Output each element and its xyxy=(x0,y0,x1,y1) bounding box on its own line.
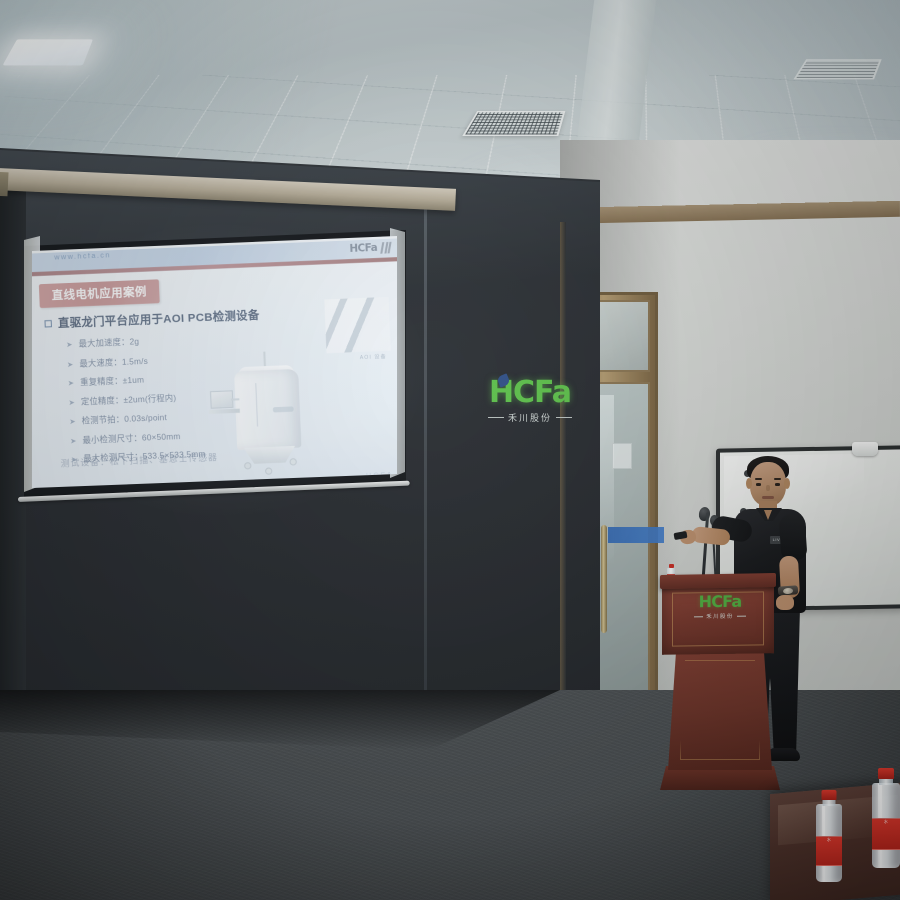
presenter-arm-right xyxy=(778,513,807,561)
presenter-eye-right xyxy=(775,483,780,486)
presenter-shoe-right xyxy=(768,748,800,761)
bottle-label-text: 水 xyxy=(816,837,842,843)
water-bottle-back: 水 xyxy=(872,768,900,868)
arrow-bullet-icon: ➤ xyxy=(66,341,73,350)
room-scene: HCFa 禾川股份 www.hcfa.cn HCFa 直线电机应用案例 直驱龙门… xyxy=(0,0,900,900)
bottle-cap xyxy=(669,564,674,568)
machine-caster xyxy=(244,462,252,470)
presenter-eyebrow-left xyxy=(755,478,762,480)
machine-caster xyxy=(265,467,273,475)
hcfa-logo-subtitle: 禾川股份 xyxy=(470,411,590,424)
slide-hcfa-logo: HCFa xyxy=(349,242,391,255)
arrow-bullet-icon: ➤ xyxy=(70,437,77,446)
presenter-eye-left xyxy=(756,483,761,486)
hcfa-wall-logo: HCFa 禾川股份 xyxy=(470,378,590,424)
partition-panel-seam xyxy=(424,195,427,695)
projection-screen: www.hcfa.cn HCFa 直线电机应用案例 直驱龙门平台应用于AOI P… xyxy=(32,236,397,488)
slide-bullet-text: 最大加速度：2g xyxy=(78,336,139,350)
machine-base xyxy=(243,446,295,465)
presenter-hand-right xyxy=(776,595,794,610)
partition-wall-edge xyxy=(560,222,566,702)
water-bottle-front: 水 xyxy=(816,790,842,882)
bottle-label: 水 xyxy=(872,818,900,850)
door-blue-band xyxy=(608,527,664,543)
bottle-cap xyxy=(878,768,894,779)
presenter-wristwatch xyxy=(778,585,799,595)
slide-bullet-item: ➤ 最大加速度：2g xyxy=(66,330,284,350)
presenter-eyebrow-right xyxy=(774,478,781,480)
left-wall-column xyxy=(0,190,26,710)
arrow-bullet-icon: ➤ xyxy=(68,379,75,388)
presenter-ear-left xyxy=(746,478,752,489)
slide-logo-text: HCFa xyxy=(349,242,377,255)
presenter-nose xyxy=(766,485,770,491)
slide-equipment-photo xyxy=(324,297,390,353)
podium-logo-subtitle: 禾川股份 xyxy=(684,611,756,620)
slide-logo-bars-icon xyxy=(381,242,391,254)
slide-heading-text: 直驱龙门平台应用于AOI PCB检测设备 xyxy=(58,306,260,331)
arrow-bullet-icon: ➤ xyxy=(69,417,76,426)
door-sign xyxy=(612,443,632,469)
podium-column-inlay xyxy=(680,660,760,760)
slide-aoi-machine-illustration xyxy=(207,354,326,481)
podium-logo-text: HCFa xyxy=(684,593,756,610)
slide-bullet-text: 最小检测尺寸：60×50mm xyxy=(82,430,180,445)
machine-caster xyxy=(289,458,297,466)
podium-desktop xyxy=(660,573,776,589)
machine-monitor-arm xyxy=(231,398,239,400)
projector-screen-housing-cap xyxy=(0,172,9,197)
arrow-bullet-icon: ➤ xyxy=(67,360,74,369)
presenter-ear-right xyxy=(784,478,790,489)
bottle-cap xyxy=(822,790,837,800)
podium-hcfa-logo: HCFa 禾川股份 xyxy=(684,593,756,620)
slide-bullet-text: 最大速度：1.5m/s xyxy=(79,355,148,369)
slide-title-banner: 直线电机应用案例 xyxy=(39,279,160,308)
machine-vent xyxy=(273,406,294,412)
door-handle[interactable] xyxy=(601,525,607,633)
ceiling-air-vent-secondary xyxy=(793,59,881,79)
bottle-label-text: 水 xyxy=(872,819,900,825)
square-bullet-icon xyxy=(44,319,52,327)
ceiling-light-panel-left xyxy=(3,39,93,65)
slide-bullet-text: 定位精度：±2um(行程内) xyxy=(81,392,177,407)
presentation-slide: www.hcfa.cn HCFa 直线电机应用案例 直驱龙门平台应用于AOI P… xyxy=(32,236,397,488)
machine-monitor xyxy=(210,390,233,409)
hcfa-logo-text: HCFa xyxy=(470,378,590,408)
slide-photo-caption: AOI 设备 xyxy=(360,353,387,361)
bottle-label: 水 xyxy=(816,836,842,866)
slide-heading: 直驱龙门平台应用于AOI PCB检测设备 xyxy=(44,306,260,331)
presenter-mouth xyxy=(762,496,774,499)
arrow-bullet-icon: ➤ xyxy=(68,398,75,407)
ceiling-air-vent xyxy=(462,111,565,136)
whiteboard-marker-tray xyxy=(852,442,878,456)
slide-bullet-text: 检测节拍：0.03s/point xyxy=(82,412,168,427)
slide-bullet-text: 重复精度：±1um xyxy=(80,374,144,388)
